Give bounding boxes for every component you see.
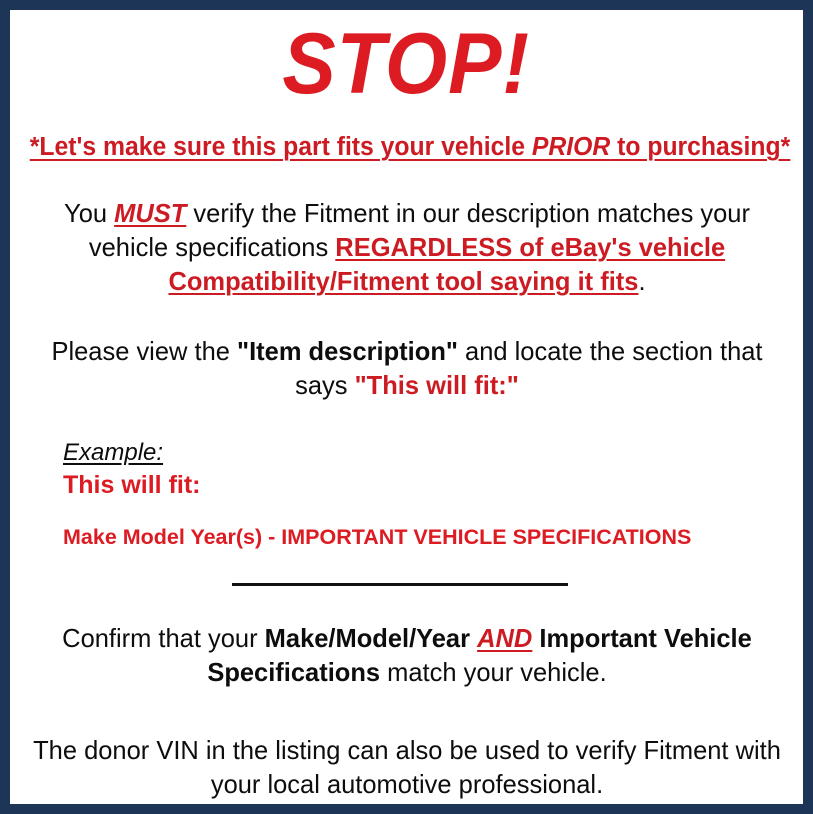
example-label-row: Example: xyxy=(63,438,795,468)
example-label: Example: xyxy=(63,438,163,468)
must-text-3: . xyxy=(638,266,645,296)
paragraph-must-verify: You MUST verify the Fitment in our descr… xyxy=(29,196,784,298)
must-text-1: You xyxy=(64,198,114,228)
red-this-will-fit: "This will fit:" xyxy=(354,370,518,400)
paragraph-donor-vin: The donor VIN in the listing can also be… xyxy=(29,733,784,801)
paragraph-confirm: Confirm that your Make/Model/Year AND Im… xyxy=(29,621,784,689)
tagline-text-after: to purchasing* xyxy=(610,133,790,161)
example-fit-line: This will fit: xyxy=(63,469,795,501)
notice-body: STOP! *Let's make sure this part fits yo… xyxy=(10,10,803,804)
tagline-container: *Let's make sure this part fits your veh… xyxy=(18,132,795,162)
stop-heading-container: STOP! xyxy=(18,18,795,110)
confirm-text-2: match your vehicle. xyxy=(380,657,607,687)
fitment-warning-notice: STOP! *Let's make sure this part fits yo… xyxy=(0,0,813,814)
confirm-space-1 xyxy=(470,623,477,653)
bold-item-description: "Item description" xyxy=(237,336,458,366)
confirm-text-1: Confirm that your xyxy=(62,623,265,653)
tagline-text-before: *Let's make sure this part fits your veh… xyxy=(30,133,532,161)
example-spec-line: Make Model Year(s) - IMPORTANT VEHICLE S… xyxy=(63,523,795,551)
tagline-emphasis-prior: PRIOR xyxy=(532,133,610,161)
confirm-space-2 xyxy=(532,623,539,653)
page-title: STOP! xyxy=(283,18,531,110)
bold-make-model-year: Make/Model/Year xyxy=(264,623,469,653)
example-block: Example: This will fit: Make Model Year(… xyxy=(18,438,795,551)
horizontal-divider xyxy=(232,583,568,586)
divider-container xyxy=(18,577,795,591)
view-text-1: Please view the xyxy=(51,336,237,366)
paragraph-view-description: Please view the "Item description" and l… xyxy=(29,334,784,402)
emphasis-must: MUST xyxy=(114,198,186,228)
tagline: *Let's make sure this part fits your veh… xyxy=(30,132,791,162)
emphasis-and: AND xyxy=(477,623,532,653)
